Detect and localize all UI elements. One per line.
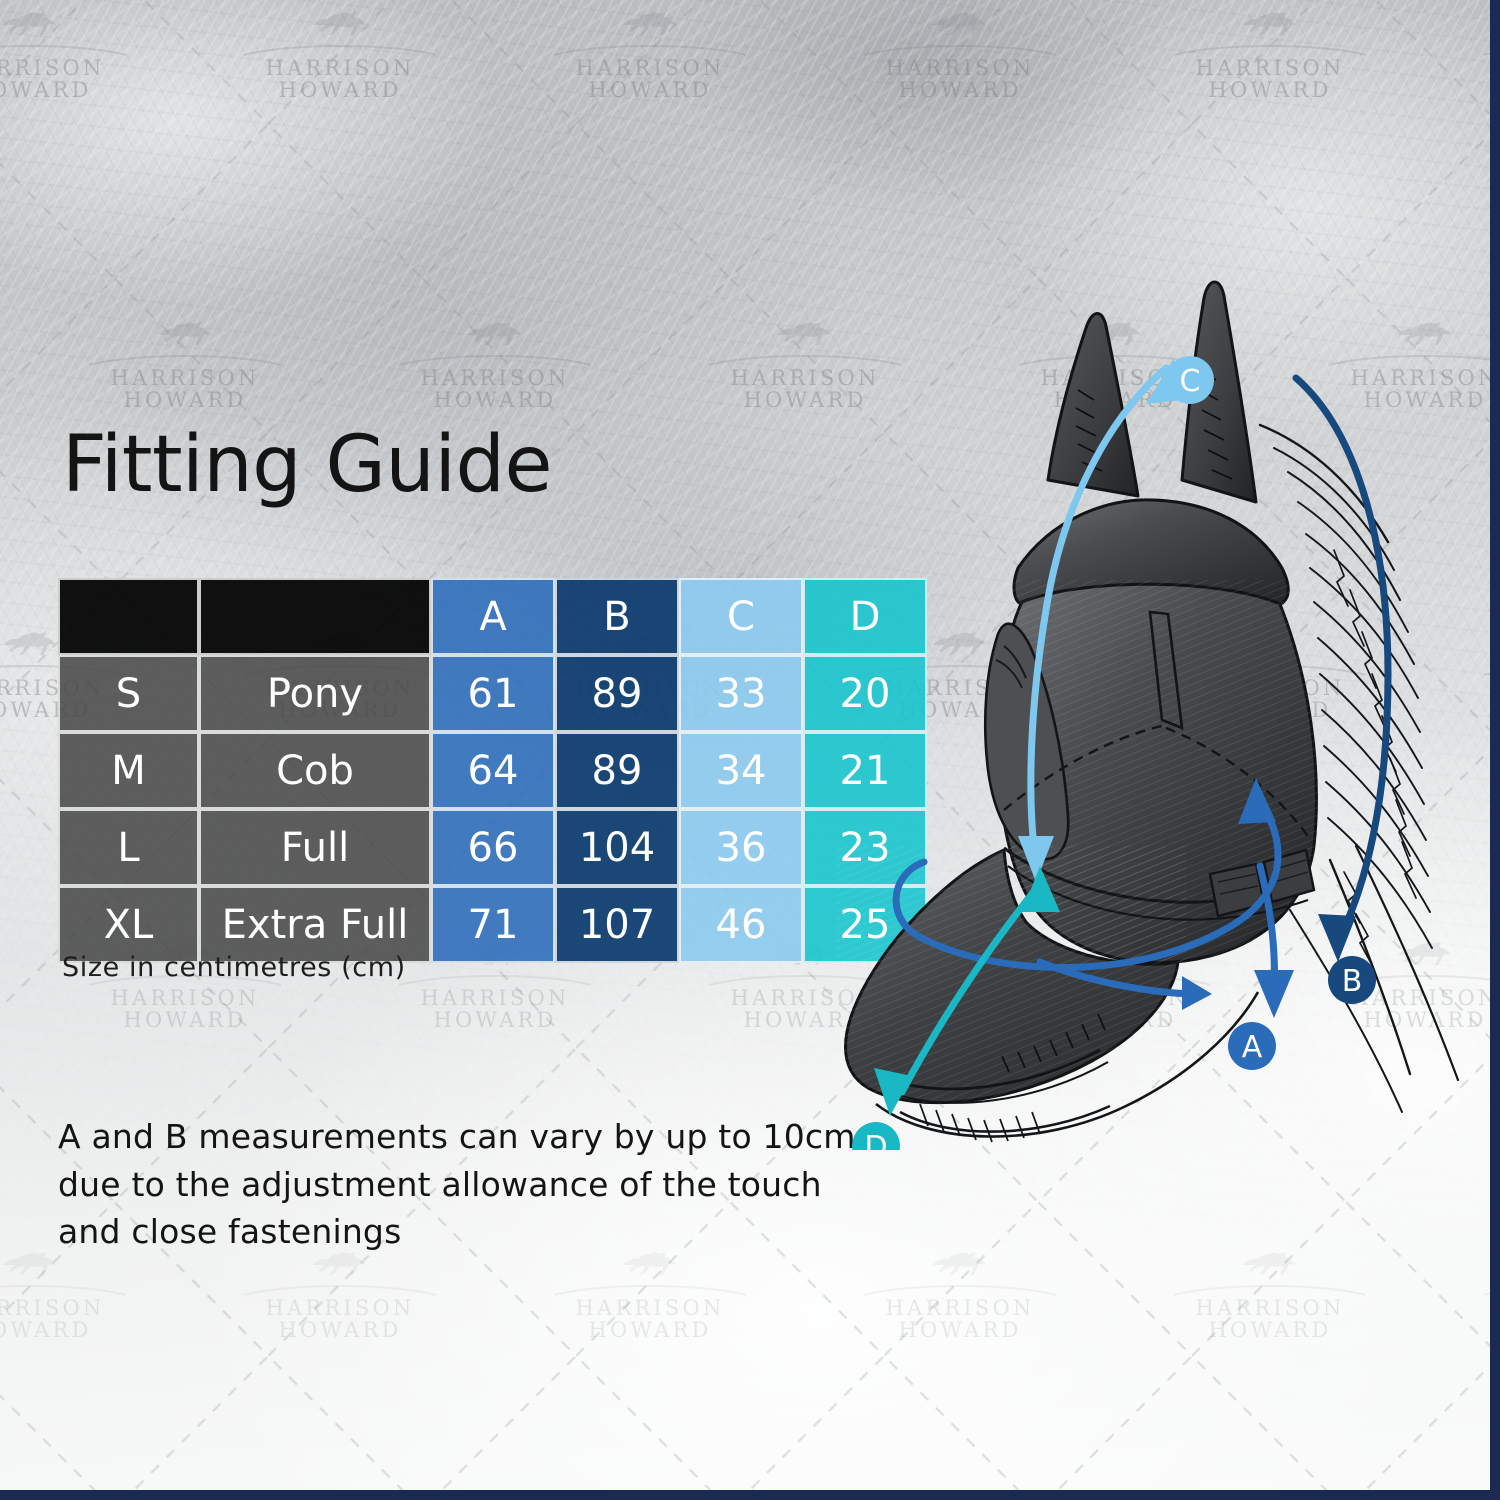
horse-head-illustration: C B A D [790, 250, 1490, 1150]
watermark-harrison-howard: HARRISONHOWARD [0, 319, 5, 411]
watermark-line-2: HOWARD [0, 389, 5, 411]
watermark-line-1: HARRISON [55, 987, 315, 1009]
marker-a: A [1228, 1022, 1276, 1070]
marker-b: B [1328, 956, 1376, 1004]
watermark-arc [55, 351, 315, 367]
cell-c: 33 [679, 655, 803, 732]
watermark-line-1: HARRISON [0, 987, 5, 1009]
watermark-line-1: HARRISON [520, 57, 780, 79]
cell-a: 71 [431, 886, 555, 963]
watermark-arc [0, 1281, 160, 1297]
watermark-line-2: HOWARD [520, 79, 780, 101]
watermark-line-1: HARRISON [210, 1297, 470, 1319]
watermark-harrison-howard: HARRISONHOWARD [520, 9, 780, 101]
watermark-arc [210, 1281, 470, 1297]
watermark-arc [1140, 1281, 1400, 1297]
watermark-arc [830, 41, 1090, 57]
cell-name: Full [199, 809, 431, 886]
arrowhead-a-down [1254, 970, 1294, 1018]
watermark-harrison-howard: HARRISONHOWARD [365, 319, 625, 411]
watermark-line-2: HOWARD [1450, 79, 1500, 101]
watermark-horse-icon [1450, 1249, 1500, 1279]
cell-size: S [58, 655, 199, 732]
watermark-arc [0, 971, 5, 987]
watermark-arc [210, 41, 470, 57]
cell-a: 64 [431, 732, 555, 809]
watermark-harrison-howard: HARRISONHOWARD [210, 1249, 470, 1341]
watermark-harrison-howard: HARRISONHOWARD [830, 1249, 1090, 1341]
watermark-line-2: HOWARD [830, 79, 1090, 101]
watermark-line-1: HARRISON [1450, 57, 1500, 79]
watermark-line-2: HOWARD [1450, 1319, 1500, 1341]
header-col-a: A [431, 578, 555, 655]
watermark-harrison-howard: HARRISONHOWARD [520, 1249, 780, 1341]
watermark-arc [520, 41, 780, 57]
watermark-line-1: HARRISON [55, 367, 315, 389]
watermark-line-1: HARRISON [830, 1297, 1090, 1319]
watermark-harrison-howard: HARRISONHOWARD [830, 9, 1090, 101]
cell-b: 89 [555, 732, 679, 809]
header-col-c: C [679, 578, 803, 655]
watermark-harrison-howard: HARRISONHOWARD [0, 939, 5, 1031]
svg-text:D: D [864, 1130, 887, 1150]
watermark-harrison-howard: HARRISONHOWARD [1140, 9, 1400, 101]
watermark-horse-icon [55, 319, 315, 349]
watermark-line-2: HOWARD [830, 1319, 1090, 1341]
watermark-line-2: HOWARD [0, 1319, 160, 1341]
horse-ears [1048, 282, 1256, 502]
watermark-line-2: HOWARD [1140, 79, 1400, 101]
watermark-line-1: HARRISON [520, 1297, 780, 1319]
watermark-arc [365, 351, 625, 367]
watermark-horse-icon [365, 319, 625, 349]
watermark-line-1: HARRISON [0, 57, 160, 79]
watermark-horse-icon [210, 9, 470, 39]
watermark-line-1: HARRISON [365, 987, 625, 1009]
watermark-arc [0, 41, 160, 57]
watermark-line-1: HARRISON [0, 1297, 160, 1319]
watermark-horse-icon [0, 319, 5, 349]
watermark-horse-icon [1450, 9, 1500, 39]
header-blank-name [199, 578, 431, 655]
watermark-harrison-howard: HARRISONHOWARD [0, 1249, 160, 1341]
watermark-line-2: HOWARD [365, 1009, 625, 1031]
arrowhead-a-right [1182, 976, 1212, 1010]
cell-c: 46 [679, 886, 803, 963]
watermark-line-1: HARRISON [210, 57, 470, 79]
watermark-horse-icon [830, 9, 1090, 39]
fitting-guide-page: HARRISONHOWARDHARRISONHOWARDHARRISONHOWA… [0, 0, 1500, 1500]
watermark-line-1: HARRISON [1140, 57, 1400, 79]
watermark-arc [520, 1281, 780, 1297]
header-col-b: B [555, 578, 679, 655]
watermark-horse-icon [0, 939, 5, 969]
svg-text:B: B [1342, 964, 1363, 999]
watermark-arc [1450, 1281, 1500, 1297]
svg-text:A: A [1242, 1030, 1263, 1065]
watermark-line-2: HOWARD [520, 1319, 780, 1341]
watermark-arc [0, 351, 5, 367]
watermark-line-1: HARRISON [1140, 1297, 1400, 1319]
watermark-line-1: HARRISON [365, 367, 625, 389]
watermark-horse-icon [520, 9, 780, 39]
watermark-line-2: HOWARD [0, 79, 160, 101]
watermark-line-2: HOWARD [210, 1319, 470, 1341]
watermark-harrison-howard: HARRISONHOWARD [1140, 1249, 1400, 1341]
cell-c: 34 [679, 732, 803, 809]
watermark-line-1: HARRISON [0, 367, 5, 389]
cell-size: L [58, 809, 199, 886]
cell-size: M [58, 732, 199, 809]
watermark-line-1: HARRISON [1450, 1297, 1500, 1319]
watermark-arc [1140, 41, 1400, 57]
cell-b: 104 [555, 809, 679, 886]
watermark-line-2: HOWARD [55, 1009, 315, 1031]
cell-a: 66 [431, 809, 555, 886]
cell-a: 61 [431, 655, 555, 732]
svg-text:C: C [1180, 364, 1201, 399]
cell-name: Cob [199, 732, 431, 809]
watermark-line-1: HARRISON [830, 57, 1090, 79]
watermark-horse-icon [1140, 9, 1400, 39]
watermark-harrison-howard: HARRISONHOWARD [0, 9, 160, 101]
watermark-harrison-howard: HARRISONHOWARD [210, 9, 470, 101]
fitting-note: A and B measurements can vary by up to 1… [58, 1113, 888, 1256]
cell-b: 107 [555, 886, 679, 963]
watermark-horse-icon [1140, 1249, 1400, 1279]
watermark-line-2: HOWARD [1140, 1319, 1400, 1341]
watermark-line-2: HOWARD [0, 1009, 5, 1031]
watermark-horse-icon [0, 9, 160, 39]
cell-name: Pony [199, 655, 431, 732]
table-caption: Size in centimetres (cm) [62, 952, 406, 983]
marker-c: C [1166, 356, 1214, 404]
watermark-line-2: HOWARD [55, 389, 315, 411]
marker-d: D [852, 1122, 900, 1150]
watermark-harrison-howard: HARRISONHOWARD [1450, 9, 1500, 101]
cell-b: 89 [555, 655, 679, 732]
page-title: Fitting Guide [62, 426, 552, 504]
watermark-line-2: HOWARD [210, 79, 470, 101]
header-blank-size [58, 578, 199, 655]
watermark-arc [830, 1281, 1090, 1297]
watermark-harrison-howard: HARRISONHOWARD [1450, 1249, 1500, 1341]
watermark-harrison-howard: HARRISONHOWARD [55, 319, 315, 411]
watermark-line-2: HOWARD [365, 389, 625, 411]
watermark-arc [1450, 41, 1500, 57]
cell-c: 36 [679, 809, 803, 886]
